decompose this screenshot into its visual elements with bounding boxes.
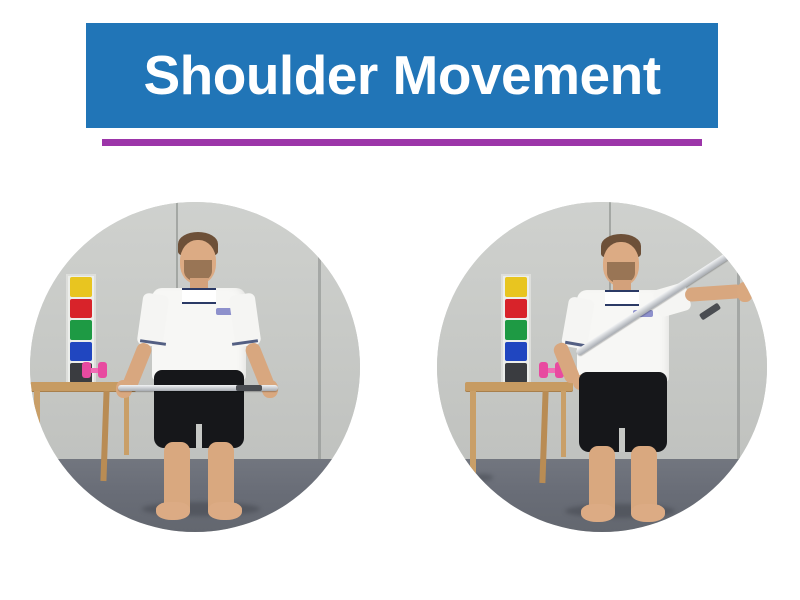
table-leg-back <box>124 391 129 455</box>
dumbbell-bar <box>548 368 555 373</box>
shorts-inner-gap <box>196 424 202 448</box>
band-roll-black <box>505 363 527 383</box>
floor <box>30 459 360 532</box>
photo-shoulder-abduction-start[interactable] <box>30 202 360 532</box>
dumbbell-end-right <box>98 362 107 378</box>
band-roll-yellow <box>505 277 527 297</box>
title-banner: Shoulder Movement <box>86 23 718 128</box>
photo-scene <box>437 202 767 532</box>
floor-object <box>36 470 54 477</box>
wall-seam-right <box>737 202 740 459</box>
dumbbell-end-left <box>82 362 91 378</box>
hand-right-raised <box>737 282 753 302</box>
exercise-pole-grip <box>236 385 262 391</box>
band-roll-green <box>505 320 527 340</box>
pink-dumbbell <box>82 362 107 378</box>
band-roll-blue <box>70 342 92 362</box>
foot-right <box>208 502 242 520</box>
shorts-inner-gap <box>619 428 625 452</box>
foot-right <box>631 504 665 522</box>
foot-left <box>156 502 190 520</box>
table-leg-left <box>34 391 40 473</box>
page-title: Shoulder Movement <box>143 48 660 103</box>
resistance-band-rack <box>501 274 531 386</box>
shirt-collar <box>182 288 216 304</box>
band-roll-yellow <box>70 277 92 297</box>
band-roll-red <box>70 299 92 319</box>
wall-seam-right <box>318 202 321 459</box>
title-underline-divider <box>102 139 702 146</box>
table-leg-left <box>470 391 476 475</box>
wooden-table-top <box>465 382 573 391</box>
band-roll-blue <box>505 342 527 362</box>
table-leg-back <box>561 391 566 457</box>
band-roll-green <box>70 320 92 340</box>
shirt-collar <box>605 290 639 306</box>
foot-left <box>581 504 615 522</box>
dumbbell-bar <box>91 368 98 373</box>
band-roll-red <box>505 299 527 319</box>
photo-shoulder-abduction-end[interactable] <box>437 202 767 532</box>
floor-object <box>473 474 493 481</box>
dumbbell-end-left <box>539 362 548 378</box>
photo-scene <box>30 202 360 532</box>
